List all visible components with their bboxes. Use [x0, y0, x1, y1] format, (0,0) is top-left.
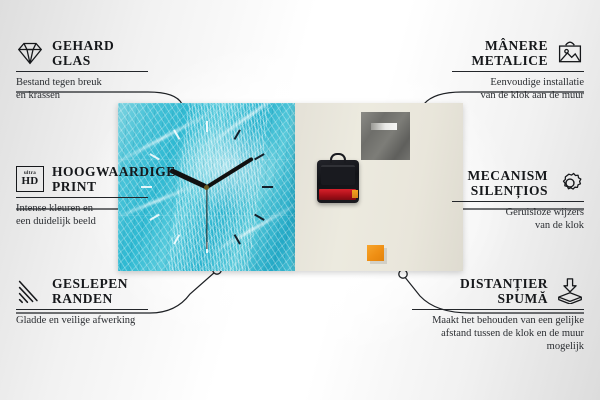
feature-rule — [16, 71, 148, 72]
feature-title: MECANISM SILENȚIOS — [468, 168, 549, 198]
feature-rule — [452, 71, 584, 72]
feature-title: HOOGWAARDIGE PRINT — [52, 164, 176, 194]
feature-subtitle: Eenvoudige installatie van de klok aan d… — [452, 76, 584, 102]
movement-housing — [321, 165, 355, 185]
feature-subtitle: Intense kleuren en een duidelijk beeld — [16, 202, 148, 228]
battery — [319, 189, 356, 200]
clock-back-panel — [295, 103, 463, 271]
feature-rule — [452, 201, 584, 202]
feature-header: ultraHD HOOGWAARDIGE PRINT — [16, 164, 148, 194]
feature-subtitle: Maakt het behouden van een gelijke afsta… — [412, 314, 584, 353]
feature-title: GESLEPEN RANDEN — [52, 276, 128, 306]
second-hand — [206, 187, 207, 249]
feature-subtitle: Geruisloze wijzers van de klok — [452, 206, 584, 232]
bevel-lines-icon — [16, 278, 44, 304]
feature-title: MÂNERE METALICE — [471, 38, 548, 68]
gear-icon — [556, 170, 584, 196]
feature-mecanism-silentios[interactable]: MECANISM SILENȚIOS Geruisloze wijzers va… — [452, 168, 584, 232]
feature-header: GEHARD GLAS — [16, 38, 148, 68]
clock-movement-part — [317, 160, 359, 203]
ultra-hd-icon: ultraHD — [16, 166, 44, 192]
infographic-stage: GEHARD GLAS Bestand tegen breuk en krass… — [0, 0, 600, 400]
clock-tick — [206, 121, 208, 187]
feature-subtitle: Bestand tegen breuk en krassen — [16, 76, 148, 102]
feature-header: DISTANȚIER SPUMĂ — [412, 276, 584, 306]
connector-dot-right-3 — [399, 270, 407, 278]
feature-header: GESLEPEN RANDEN — [16, 276, 148, 306]
feature-title: DISTANȚIER SPUMĂ — [460, 276, 548, 306]
clock-tick — [207, 186, 273, 188]
hand-cap — [204, 185, 209, 190]
spacer-arrow-icon — [556, 278, 584, 304]
feature-header: MÂNERE METALICE — [452, 38, 584, 68]
feature-rule — [16, 197, 148, 198]
feature-geslepen-randen[interactable]: GESLEPEN RANDEN Gladde en veilige afwerk… — [16, 276, 148, 327]
feature-header: MECANISM SILENȚIOS — [452, 168, 584, 198]
hanger-loop — [330, 153, 346, 163]
picture-hanger-icon — [556, 40, 584, 66]
feature-hoogwaardige-print[interactable]: ultraHD HOOGWAARDIGE PRINT Intense kleur… — [16, 164, 148, 228]
feature-rule — [412, 309, 584, 310]
diamond-icon — [16, 40, 44, 66]
feature-title: GEHARD GLAS — [52, 38, 114, 68]
metal-hanger-part — [361, 112, 410, 160]
feature-distantier-spuma[interactable]: DISTANȚIER SPUMĂ Maakt het behouden van … — [412, 276, 584, 353]
feature-manere-metalice[interactable]: MÂNERE METALICE Eenvoudige installatie v… — [452, 38, 584, 102]
feature-subtitle: Gladde en veilige afwerking — [16, 314, 148, 327]
foam-spacer-part — [367, 245, 384, 261]
feature-rule — [16, 309, 148, 310]
feature-gehard-glas[interactable]: GEHARD GLAS Bestand tegen breuk en krass… — [16, 38, 148, 102]
